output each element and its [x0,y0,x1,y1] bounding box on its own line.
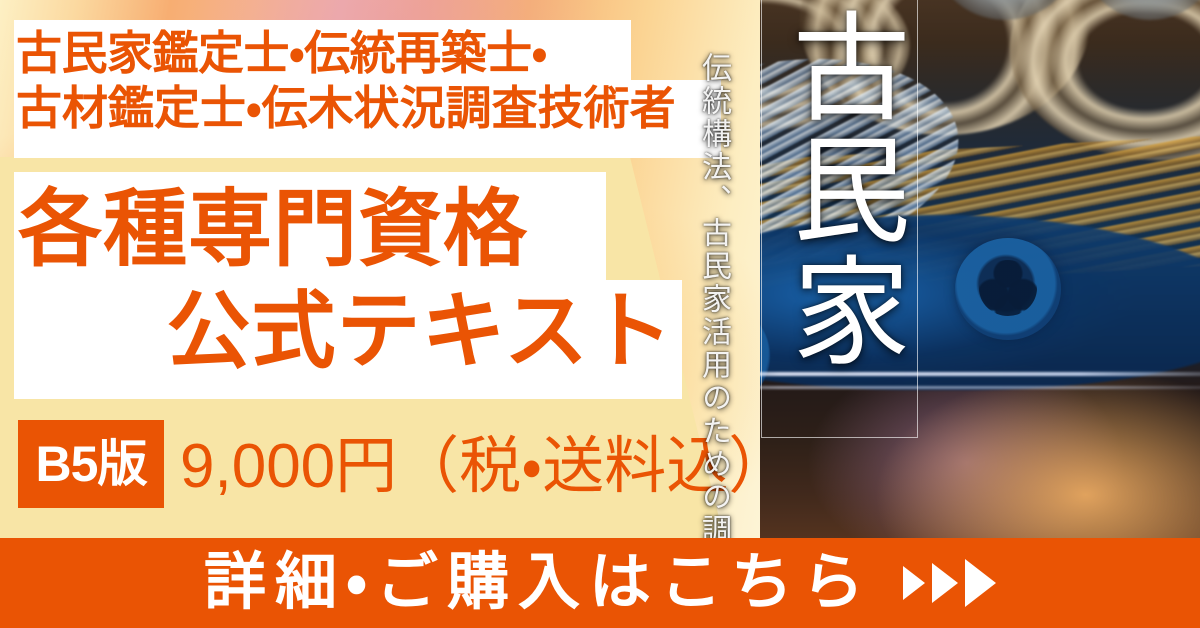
cta-arrow-group [903,559,996,607]
cover-subtitle: 伝統構法、古民家活用のための調査と再生の [697,52,730,572]
headline-main-line-1: 各種専門資格 [18,178,682,280]
promo-banner[interactable]: 伝統構法、古民家活用のための調査と再生の 古民家 古民家鑑定士・伝統再築士・ 古… [0,0,1200,628]
triangle-right-icon [903,566,925,600]
blue-crest-medallion [955,238,1061,340]
headline-sub-text: 古民家鑑定士・伝統再築士・ 古材鑑定士・伝木状況調査技術者 [16,26,721,135]
cover-title: 古民家 [775,6,905,372]
headline-main-line-2: 公式テキスト [18,280,682,382]
triangle-right-icon [965,559,996,607]
cta-label: 詳細・ご購入はこちら [204,552,873,614]
headline-sub-line-1: 古民家鑑定士・伝統再築士・ [16,27,547,79]
triangle-right-icon [932,563,958,603]
format-badge: B5版 [18,420,164,508]
cta-bar[interactable]: 詳細・ご購入はこちら [0,538,1200,628]
headline-main-text: 各種専門資格 公式テキスト [18,178,682,383]
headline-sub-line-2: 古材鑑定士・伝木状況調査技術者 [16,82,676,134]
